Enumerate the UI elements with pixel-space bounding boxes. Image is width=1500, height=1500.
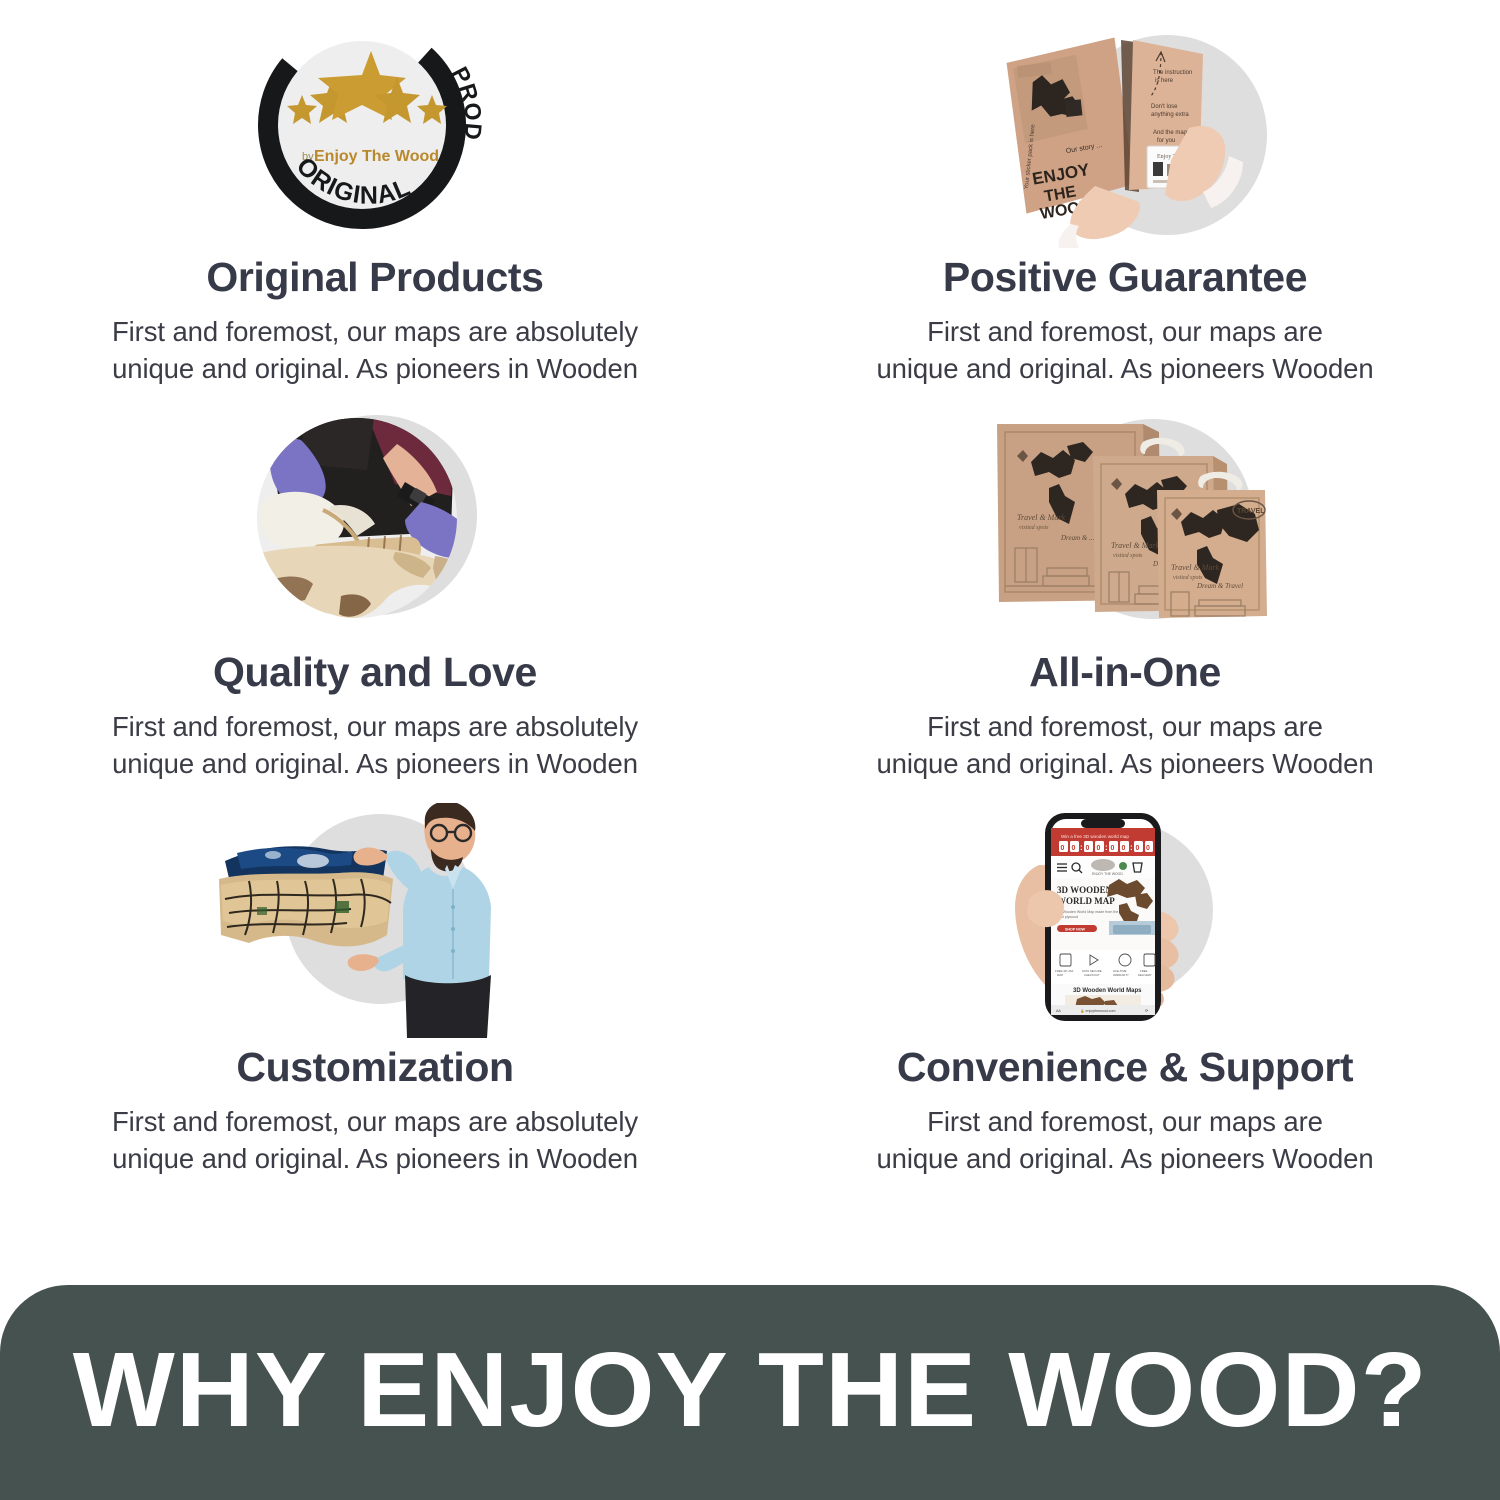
feature-card-customization: Customization First and foremost, our ma… xyxy=(0,790,750,1190)
svg-text:3D Wooden World Maps: 3D Wooden World Maps xyxy=(1073,988,1142,994)
feature-desc-line-2: unique and original. As pioneers in Wood… xyxy=(112,1140,638,1177)
feature-title: Positive Guarantee xyxy=(943,256,1307,299)
svg-text:The instruction: The instruction xyxy=(1153,70,1192,76)
svg-text::: : xyxy=(1105,843,1108,852)
phone-in-hand-illustration-icon: Win a free 3D wooden world map xyxy=(985,803,1265,1038)
svg-text:Win a free 3D wooden world map: Win a free 3D wooden world map xyxy=(1061,834,1129,839)
feature-desc-line-1: First and foremost, our maps are absolut… xyxy=(112,708,638,745)
craftsman-illustration-icon xyxy=(245,410,505,640)
svg-text:0: 0 xyxy=(1136,845,1140,852)
svg-text:WORLD MAP: WORLD MAP xyxy=(1057,896,1115,906)
boxes-illustration-icon: Travel & Mark visited spots Dream & ... xyxy=(975,410,1275,640)
svg-text:visited spots: visited spots xyxy=(1019,525,1049,531)
svg-text:CHECKOUT: CHECKOUT xyxy=(1084,973,1100,977)
svg-text::: : xyxy=(1080,843,1083,852)
svg-text:anything extra: anything extra xyxy=(1151,112,1189,118)
feature-description: First and foremost, our maps are unique … xyxy=(876,313,1373,387)
feature-desc-line-1: First and foremost, our maps are absolut… xyxy=(112,1103,638,1140)
feature-card-convenience-and-support: Win a free 3D wooden world map xyxy=(750,790,1500,1190)
feature-desc-line-2: unique and original. As pioneers in Wood… xyxy=(112,745,638,782)
svg-text:🔒 enjoythewood.com: 🔒 enjoythewood.com xyxy=(1080,1008,1115,1013)
feature-description: First and foremost, our maps are unique … xyxy=(876,1103,1373,1177)
feature-title: Convenience & Support xyxy=(897,1046,1353,1089)
feature-desc-line-2: unique and original. As pioneers in Wood… xyxy=(112,350,638,387)
feature-title: All-in-One xyxy=(1029,651,1221,694)
svg-text:Don't lose: Don't lose xyxy=(1151,104,1178,110)
bottom-banner: WHY ENJOY THE WOOD? xyxy=(0,1285,1500,1500)
man-holding-custom-wooden-city-map xyxy=(215,800,535,1040)
feature-title: Customization xyxy=(236,1046,513,1089)
original-product-badge-icon: by Enjoy The Wood ORIGINAL PRODUCT xyxy=(250,13,500,248)
svg-text:0: 0 xyxy=(1072,845,1076,852)
svg-text:WARRANTY: WARRANTY xyxy=(1113,973,1129,977)
original-product-seal-badge: by Enjoy The Wood ORIGINAL PRODUCT xyxy=(225,10,525,250)
banner-headline: WHY ENJOY THE WOOD? xyxy=(72,1337,1427,1449)
feature-desc-line-2: unique and original. As pioneers Wooden xyxy=(876,1140,1373,1177)
svg-text:visited spots: visited spots xyxy=(1173,575,1203,581)
svg-text:0: 0 xyxy=(1146,845,1150,852)
feature-desc-line-1: First and foremost, our maps are xyxy=(876,708,1373,745)
svg-text:for you: for you xyxy=(1157,138,1175,144)
svg-text:TRAVEL: TRAVEL xyxy=(1237,508,1265,515)
svg-text:DELIVERY: DELIVERY xyxy=(1138,973,1152,977)
feature-desc-line-2: unique and original. As pioneers Wooden xyxy=(876,350,1373,387)
feature-desc-line-1: First and foremost, our maps are xyxy=(876,313,1373,350)
packaging-illustration-icon: Our story ... ENJOY THE WOOD Your sticke… xyxy=(975,10,1275,250)
svg-text:Dream & ...: Dream & ... xyxy=(1060,534,1095,542)
svg-text:Travel & Mark: Travel & Mark xyxy=(1017,513,1065,522)
promo-page: by Enjoy The Wood ORIGINAL PRODUCT Origi… xyxy=(0,0,1500,1500)
feature-desc-line-1: First and foremost, our maps are absolut… xyxy=(112,313,638,350)
feature-card-original-products: by Enjoy The Wood ORIGINAL PRODUCT Origi… xyxy=(0,0,750,395)
svg-text:Travel & Mark: Travel & Mark xyxy=(1111,541,1159,550)
svg-text:0: 0 xyxy=(1061,845,1065,852)
svg-text:3D WOODEN: 3D WOODEN xyxy=(1057,885,1113,895)
craftsman-in-purple-gloves-finishing-wooden-map xyxy=(225,405,525,645)
svg-text::: : xyxy=(1130,843,1133,852)
svg-text:Enjoy The Wood: Enjoy The Wood xyxy=(314,148,439,165)
three-kraft-boxes-with-world-map-print: Travel & Mark visited spots Dream & ... xyxy=(975,405,1275,645)
feature-description: First and foremost, our maps are absolut… xyxy=(112,708,638,782)
svg-text:MAP: MAP xyxy=(1057,973,1063,977)
svg-text:0: 0 xyxy=(1111,845,1115,852)
svg-text:visited spots: visited spots xyxy=(1113,553,1143,559)
feature-card-quality-and-love: Quality and Love First and foremost, our… xyxy=(0,395,750,790)
feature-description: First and foremost, our maps are absolut… xyxy=(112,1103,638,1177)
feature-desc-line-1: First and foremost, our maps are xyxy=(876,1103,1373,1140)
svg-text:ENJOY THE WOOD: ENJOY THE WOOD xyxy=(1092,872,1123,876)
feature-desc-line-2: unique and original. As pioneers Wooden xyxy=(876,745,1373,782)
svg-text:Dream & Travel: Dream & Travel xyxy=(1196,582,1243,590)
feature-title: Quality and Love xyxy=(213,651,537,694)
hands-holding-opened-cardboard-packaging: Our story ... ENJOY THE WOOD Your sticke… xyxy=(975,10,1275,250)
feature-card-positive-guarantee: Our story ... ENJOY THE WOOD Your sticke… xyxy=(750,0,1500,395)
svg-text:0: 0 xyxy=(1086,845,1090,852)
feature-title: Original Products xyxy=(206,256,543,299)
svg-text:3D Wooden World Map made from: 3D Wooden World Map made from the xyxy=(1057,910,1118,914)
feature-description: First and foremost, our maps are unique … xyxy=(876,708,1373,782)
feature-description: First and foremost, our maps are absolut… xyxy=(112,313,638,387)
svg-text:is here: is here xyxy=(1155,78,1174,84)
svg-text:0: 0 xyxy=(1097,845,1101,852)
feature-card-all-in-one: Travel & Mark visited spots Dream & ... xyxy=(750,395,1500,790)
feature-grid: by Enjoy The Wood ORIGINAL PRODUCT Origi… xyxy=(0,0,1500,1285)
hand-holding-phone-with-online-store: Win a free 3D wooden world map xyxy=(975,800,1275,1040)
svg-text:0: 0 xyxy=(1122,845,1126,852)
svg-text:SHOP NOW: SHOP NOW xyxy=(1065,927,1086,931)
customization-illustration-icon xyxy=(215,803,535,1038)
svg-text:AA: AA xyxy=(1056,1009,1061,1013)
svg-text:Travel & Mark: Travel & Mark xyxy=(1171,563,1219,572)
